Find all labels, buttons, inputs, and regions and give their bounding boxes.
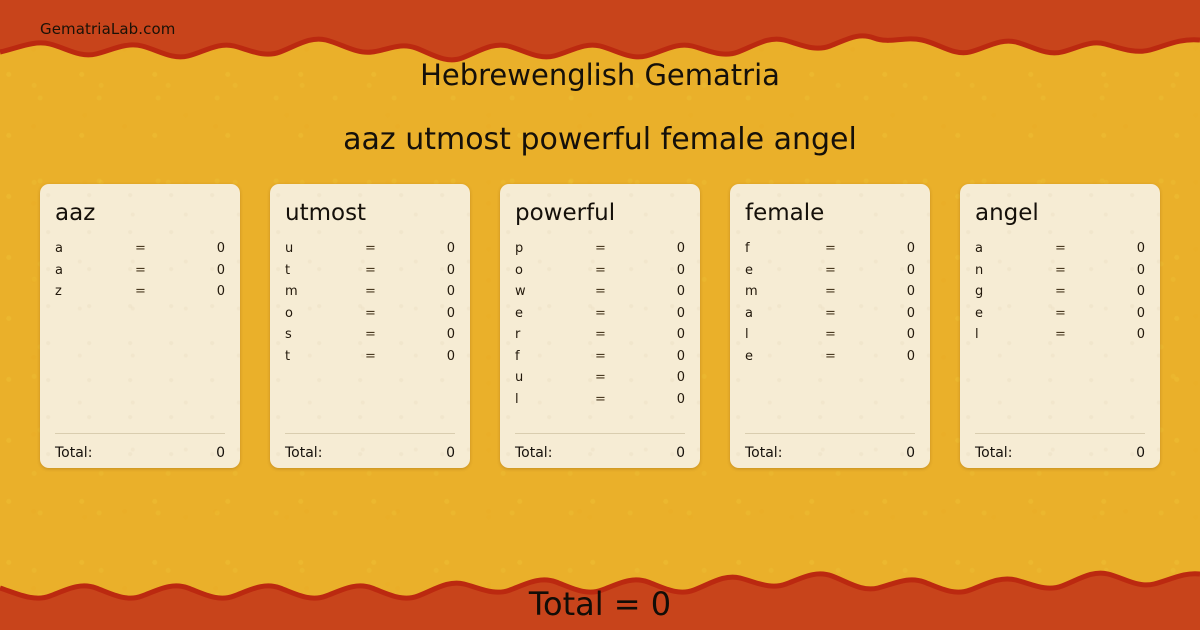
letter-value: 0 — [1099, 263, 1145, 278]
equals-sign: = — [365, 306, 409, 321]
card-total-value: 0 — [216, 445, 225, 461]
letter-row: u = 0 — [515, 370, 685, 392]
letter-label: a — [975, 241, 1055, 256]
letter-label: f — [515, 349, 595, 364]
letter-row: f = 0 — [515, 349, 685, 371]
letter-label: l — [975, 327, 1055, 342]
letter-row: w = 0 — [515, 284, 685, 306]
letter-row: m = 0 — [285, 284, 455, 306]
letter-value: 0 — [409, 284, 455, 299]
equals-sign: = — [1055, 306, 1099, 321]
letter-value: 0 — [1099, 241, 1145, 256]
letter-label: l — [515, 392, 595, 407]
equals-sign: = — [595, 284, 639, 299]
equals-sign: = — [135, 263, 179, 278]
equals-sign: = — [135, 284, 179, 299]
word-card-title: utmost — [285, 202, 455, 225]
card-total-row: Total: 0 — [285, 434, 455, 468]
letter-label: u — [285, 241, 365, 256]
letter-value: 0 — [639, 306, 685, 321]
letter-row: a = 0 — [975, 241, 1145, 263]
word-card[interactable]: female f = 0 e = 0 m = 0 a — [730, 184, 930, 468]
letter-label: m — [285, 284, 365, 299]
grand-total-label: Total = 0 — [0, 585, 1200, 623]
equals-sign: = — [595, 327, 639, 342]
letter-row: a = 0 — [55, 263, 225, 285]
letter-value: 0 — [409, 263, 455, 278]
equals-sign: = — [595, 392, 639, 407]
equals-sign: = — [1055, 284, 1099, 299]
letter-value: 0 — [179, 263, 225, 278]
letter-value: 0 — [1099, 327, 1145, 342]
letter-rows: f = 0 e = 0 m = 0 a = 0 — [745, 241, 915, 433]
page-title: Hebrewenglish Gematria — [0, 58, 1200, 92]
letter-value: 0 — [869, 349, 915, 364]
letter-label: n — [975, 263, 1055, 278]
letter-label: a — [745, 306, 825, 321]
card-total-row: Total: 0 — [515, 434, 685, 468]
letter-row: z = 0 — [55, 284, 225, 306]
letter-label: a — [55, 263, 135, 278]
phrase-subtitle: aaz utmost powerful female angel — [0, 122, 1200, 157]
letter-label: e — [745, 349, 825, 364]
letter-label: w — [515, 284, 595, 299]
card-total-label: Total: — [975, 445, 1136, 461]
equals-sign: = — [1055, 263, 1099, 278]
site-brand-label[interactable]: GematriaLab.com — [40, 20, 175, 38]
letter-value: 0 — [869, 241, 915, 256]
equals-sign: = — [365, 263, 409, 278]
letter-row: m = 0 — [745, 284, 915, 306]
letter-rows: a = 0 a = 0 z = 0 — [55, 241, 225, 433]
card-total-label: Total: — [745, 445, 906, 461]
equals-sign: = — [595, 349, 639, 364]
equals-sign: = — [365, 241, 409, 256]
word-card-title: angel — [975, 202, 1145, 225]
equals-sign: = — [595, 241, 639, 256]
card-total-label: Total: — [515, 445, 676, 461]
letter-row: f = 0 — [745, 241, 915, 263]
letter-row: o = 0 — [285, 306, 455, 328]
equals-sign: = — [825, 327, 869, 342]
word-card[interactable]: aaz a = 0 a = 0 z = 0 — [40, 184, 240, 468]
letter-label: e — [975, 306, 1055, 321]
letter-label: t — [285, 349, 365, 364]
letter-label: e — [515, 306, 595, 321]
word-card-title: aaz — [55, 202, 225, 225]
card-total-row: Total: 0 — [745, 434, 915, 468]
letter-value: 0 — [1099, 284, 1145, 299]
card-total-label: Total: — [55, 445, 216, 461]
letter-row: l = 0 — [975, 327, 1145, 349]
letter-value: 0 — [179, 284, 225, 299]
gematria-poster: GematriaLab.com Hebrewenglish Gematria a… — [0, 0, 1200, 630]
letter-label: r — [515, 327, 595, 342]
letter-value: 0 — [409, 327, 455, 342]
letter-label: m — [745, 284, 825, 299]
letter-label: p — [515, 241, 595, 256]
card-total-value: 0 — [676, 445, 685, 461]
equals-sign: = — [825, 263, 869, 278]
letter-label: o — [515, 263, 595, 278]
letter-value: 0 — [639, 392, 685, 407]
letter-row: o = 0 — [515, 263, 685, 285]
equals-sign: = — [365, 327, 409, 342]
letter-label: u — [515, 370, 595, 385]
card-total-row: Total: 0 — [55, 434, 225, 468]
letter-value: 0 — [869, 284, 915, 299]
equals-sign: = — [1055, 327, 1099, 342]
word-card[interactable]: utmost u = 0 t = 0 m = 0 o — [270, 184, 470, 468]
letter-value: 0 — [639, 284, 685, 299]
letter-row: a = 0 — [745, 306, 915, 328]
equals-sign: = — [1055, 241, 1099, 256]
letter-label: l — [745, 327, 825, 342]
letter-label: s — [285, 327, 365, 342]
letter-row: l = 0 — [745, 327, 915, 349]
letter-row: l = 0 — [515, 392, 685, 414]
letter-value: 0 — [639, 263, 685, 278]
letter-value: 0 — [639, 349, 685, 364]
word-card-title: female — [745, 202, 915, 225]
letter-value: 0 — [409, 306, 455, 321]
letter-value: 0 — [409, 241, 455, 256]
letter-rows: p = 0 o = 0 w = 0 e = 0 — [515, 241, 685, 433]
equals-sign: = — [595, 370, 639, 385]
letter-row: t = 0 — [285, 349, 455, 371]
letter-label: f — [745, 241, 825, 256]
equals-sign: = — [365, 349, 409, 364]
letter-value: 0 — [869, 263, 915, 278]
letter-row: a = 0 — [55, 241, 225, 263]
letter-row: e = 0 — [515, 306, 685, 328]
letter-label: a — [55, 241, 135, 256]
word-card-list: aaz a = 0 a = 0 z = 0 — [40, 184, 1160, 468]
letter-row: r = 0 — [515, 327, 685, 349]
letter-row: e = 0 — [745, 263, 915, 285]
equals-sign: = — [135, 241, 179, 256]
equals-sign: = — [825, 284, 869, 299]
letter-value: 0 — [1099, 306, 1145, 321]
equals-sign: = — [365, 284, 409, 299]
word-card-title: powerful — [515, 202, 685, 225]
letter-row: s = 0 — [285, 327, 455, 349]
letter-label: e — [745, 263, 825, 278]
letter-row: u = 0 — [285, 241, 455, 263]
card-total-label: Total: — [285, 445, 446, 461]
letter-row: e = 0 — [975, 306, 1145, 328]
card-total-value: 0 — [906, 445, 915, 461]
letter-value: 0 — [869, 327, 915, 342]
letter-value: 0 — [639, 370, 685, 385]
letter-value: 0 — [409, 349, 455, 364]
equals-sign: = — [595, 306, 639, 321]
letter-row: t = 0 — [285, 263, 455, 285]
letter-row: p = 0 — [515, 241, 685, 263]
word-card[interactable]: powerful p = 0 o = 0 w = 0 e — [500, 184, 700, 468]
word-card[interactable]: angel a = 0 n = 0 g = 0 e — [960, 184, 1160, 468]
letter-row: e = 0 — [745, 349, 915, 371]
letter-label: t — [285, 263, 365, 278]
letter-rows: u = 0 t = 0 m = 0 o = 0 — [285, 241, 455, 433]
equals-sign: = — [825, 306, 869, 321]
letter-rows: a = 0 n = 0 g = 0 e = 0 — [975, 241, 1145, 433]
card-total-value: 0 — [446, 445, 455, 461]
letter-value: 0 — [639, 241, 685, 256]
letter-label: o — [285, 306, 365, 321]
letter-value: 0 — [869, 306, 915, 321]
letter-value: 0 — [639, 327, 685, 342]
letter-row: n = 0 — [975, 263, 1145, 285]
equals-sign: = — [595, 263, 639, 278]
letter-label: z — [55, 284, 135, 299]
letter-label: g — [975, 284, 1055, 299]
card-total-value: 0 — [1136, 445, 1145, 461]
card-total-row: Total: 0 — [975, 434, 1145, 468]
letter-row: g = 0 — [975, 284, 1145, 306]
letter-value: 0 — [179, 241, 225, 256]
equals-sign: = — [825, 241, 869, 256]
equals-sign: = — [825, 349, 869, 364]
